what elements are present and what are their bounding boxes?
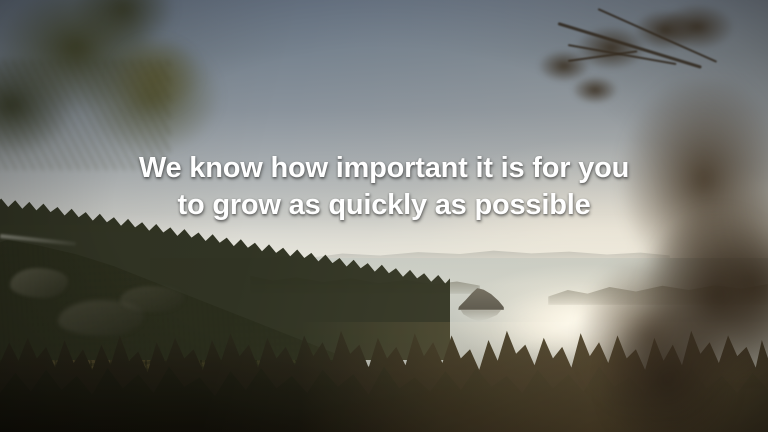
- video-frame: We know how important it is for you to g…: [0, 0, 768, 432]
- rock-outcrop: [10, 268, 68, 298]
- foliage-needle-wisps: [0, 60, 170, 170]
- rock-outcrop: [120, 286, 184, 312]
- foreground-tree-blurred-lower: [598, 200, 768, 432]
- needle-cluster: [572, 76, 618, 104]
- needle-cluster: [660, 4, 734, 50]
